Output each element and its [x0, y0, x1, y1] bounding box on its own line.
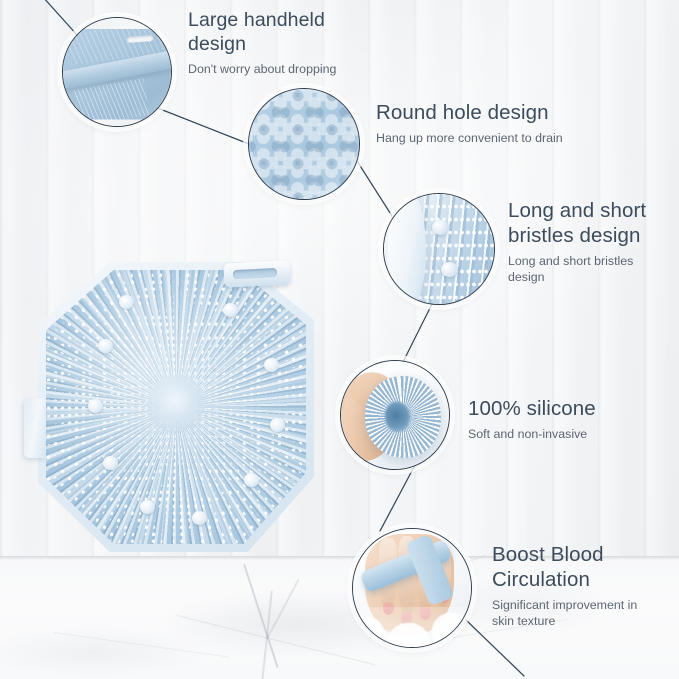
bristle-knob	[98, 339, 113, 353]
callout-subtitle: Don't worry about dropping	[188, 61, 402, 77]
product-infographic-scene: Large handheld design Don't worry about …	[0, 0, 679, 679]
product-handle-strap	[223, 260, 290, 287]
bristle-knob	[119, 295, 134, 309]
bristle-knob	[244, 473, 259, 487]
callout-boost-blood-circulation: Boost Blood Circulation Significant impr…	[492, 542, 676, 629]
bristle-knob	[223, 303, 238, 317]
callout-title: 100% silicone	[468, 396, 664, 421]
callout-large-handheld-design: Large handheld design Don't worry about …	[188, 8, 402, 77]
bristle-knob	[270, 418, 285, 432]
product-lighting	[46, 270, 306, 544]
callout-title: Long and short bristles design	[508, 198, 674, 248]
round-hole-texture-inset	[248, 88, 360, 200]
callout-subtitle: Soft and non-invasive	[468, 426, 664, 442]
callout-title: Boost Blood Circulation	[492, 542, 676, 592]
callout-subtitle: Long and short bristles design	[508, 253, 674, 285]
brush-back-handle-inset	[62, 17, 172, 127]
callout-round-hole-design: Round hole design Hang up more convenien…	[376, 100, 644, 146]
bristle-knob	[264, 358, 279, 372]
product-bristle-face	[46, 270, 306, 544]
callout-title: Round hole design	[376, 100, 644, 125]
product-hang-tab	[24, 398, 46, 458]
bristle-knob	[140, 500, 155, 514]
callout-100-percent-silicone: 100% silicone Soft and non-invasive	[468, 396, 664, 442]
callout-subtitle: Hang up more convenient to drain	[376, 130, 644, 146]
callout-subtitle: Significant improvement in skin texture	[492, 597, 676, 629]
callout-long-and-short-bristles-design: Long and short bristles design Long and …	[508, 198, 674, 285]
honeycomb-cells-shadow	[248, 88, 360, 200]
product-handle-slot	[233, 268, 277, 279]
bristle-knob	[192, 511, 207, 525]
callout-title: Large handheld design	[188, 8, 402, 56]
squeezed-brush	[361, 372, 445, 462]
brush-in-use-inset	[352, 528, 472, 648]
silicone-flex-inset	[340, 360, 450, 470]
bristles-closeup-inset	[383, 193, 495, 305]
brush-rim-edge	[388, 193, 425, 305]
soap-foam	[352, 607, 472, 648]
silicone-body-brush	[24, 256, 326, 558]
bristle-knob	[88, 399, 103, 413]
bristle-beads	[417, 193, 495, 305]
